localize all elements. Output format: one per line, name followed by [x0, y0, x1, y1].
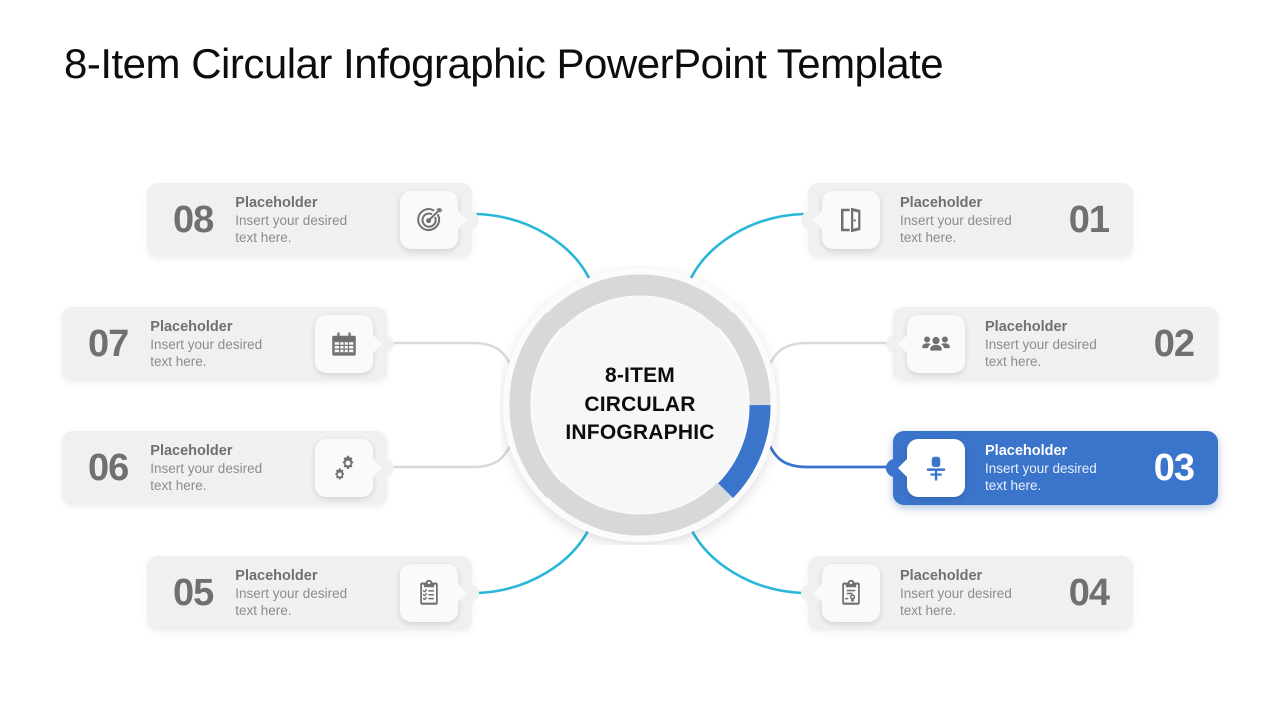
card-heading: Placeholder: [900, 194, 1012, 212]
infographic-stage: 8-Item Circular Infographic PowerPoint T…: [0, 0, 1280, 720]
card-text-block: Placeholder Insert your desiredtext here…: [985, 442, 1097, 494]
card-heading: Placeholder: [235, 194, 347, 212]
item-card-07[interactable]: 07 Placeholder Insert your desiredtext h…: [62, 307, 387, 381]
card-body-text: Insert your desiredtext here.: [235, 586, 347, 619]
card-body-text: Insert your desiredtext here.: [900, 586, 1012, 619]
card-number: 05: [173, 574, 213, 612]
gears-icon: [315, 439, 373, 497]
card-heading: Placeholder: [150, 442, 262, 460]
connector-07: [392, 343, 512, 368]
item-card-02[interactable]: Placeholder Insert your desiredtext here…: [893, 307, 1218, 381]
card-number: 08: [173, 201, 213, 239]
calendar-icon: [315, 315, 373, 373]
item-card-05[interactable]: 05 Placeholder Insert your desiredtext h…: [147, 556, 472, 630]
item-card-06[interactable]: 06 Placeholder Insert your desiredtext h…: [62, 431, 387, 505]
card-text-block: Placeholder Insert your desiredtext here…: [150, 318, 262, 370]
card-body-text: Insert your desiredtext here.: [150, 461, 262, 494]
card-number: 06: [88, 449, 128, 487]
card-number: 07: [88, 325, 128, 363]
card-heading: Placeholder: [150, 318, 262, 336]
card-number: 03: [1154, 449, 1194, 487]
card-text-block: Placeholder Insert your desiredtext here…: [235, 567, 347, 619]
card-text-block: Placeholder Insert your desiredtext here…: [985, 318, 1097, 370]
connector-03: [768, 442, 888, 467]
card-heading: Placeholder: [900, 567, 1012, 585]
card-text-block: Placeholder Insert your desiredtext here…: [235, 194, 347, 246]
people-group-icon: [907, 315, 965, 373]
card-body-text: Insert your desiredtext here.: [985, 337, 1097, 370]
card-body-text: Insert your desiredtext here.: [150, 337, 262, 370]
connector-06: [392, 442, 512, 467]
card-body-text: Insert your desiredtext here.: [985, 461, 1097, 494]
item-card-01[interactable]: Placeholder Insert your desiredtext here…: [808, 183, 1133, 257]
office-chair-icon: [907, 439, 965, 497]
card-body-text: Insert your desiredtext here.: [900, 213, 1012, 246]
clipboard-person-icon: [822, 564, 880, 622]
card-body-text: Insert your desiredtext here.: [235, 213, 347, 246]
card-heading: Placeholder: [235, 567, 347, 585]
open-door-icon: [822, 191, 880, 249]
item-card-04[interactable]: Placeholder Insert your desiredtext here…: [808, 556, 1133, 630]
card-text-block: Placeholder Insert your desiredtext here…: [900, 194, 1012, 246]
connector-02: [768, 343, 888, 368]
clipboard-checklist-icon: [400, 564, 458, 622]
wheel-inner-disc: [532, 297, 748, 513]
card-text-block: Placeholder Insert your desiredtext here…: [150, 442, 262, 494]
card-text-block: Placeholder Insert your desiredtext here…: [900, 567, 1012, 619]
card-heading: Placeholder: [985, 318, 1097, 336]
card-number: 04: [1069, 574, 1109, 612]
item-card-03[interactable]: Placeholder Insert your desiredtext here…: [893, 431, 1218, 505]
center-wheel: 8-ITEM CIRCULAR INFOGRAPHIC: [500, 265, 780, 545]
card-heading: Placeholder: [985, 442, 1097, 460]
card-number: 02: [1154, 325, 1194, 363]
card-number: 01: [1069, 201, 1109, 239]
target-arrow-icon: [400, 191, 458, 249]
item-card-08[interactable]: 08 Placeholder Insert your desiredtext h…: [147, 183, 472, 257]
